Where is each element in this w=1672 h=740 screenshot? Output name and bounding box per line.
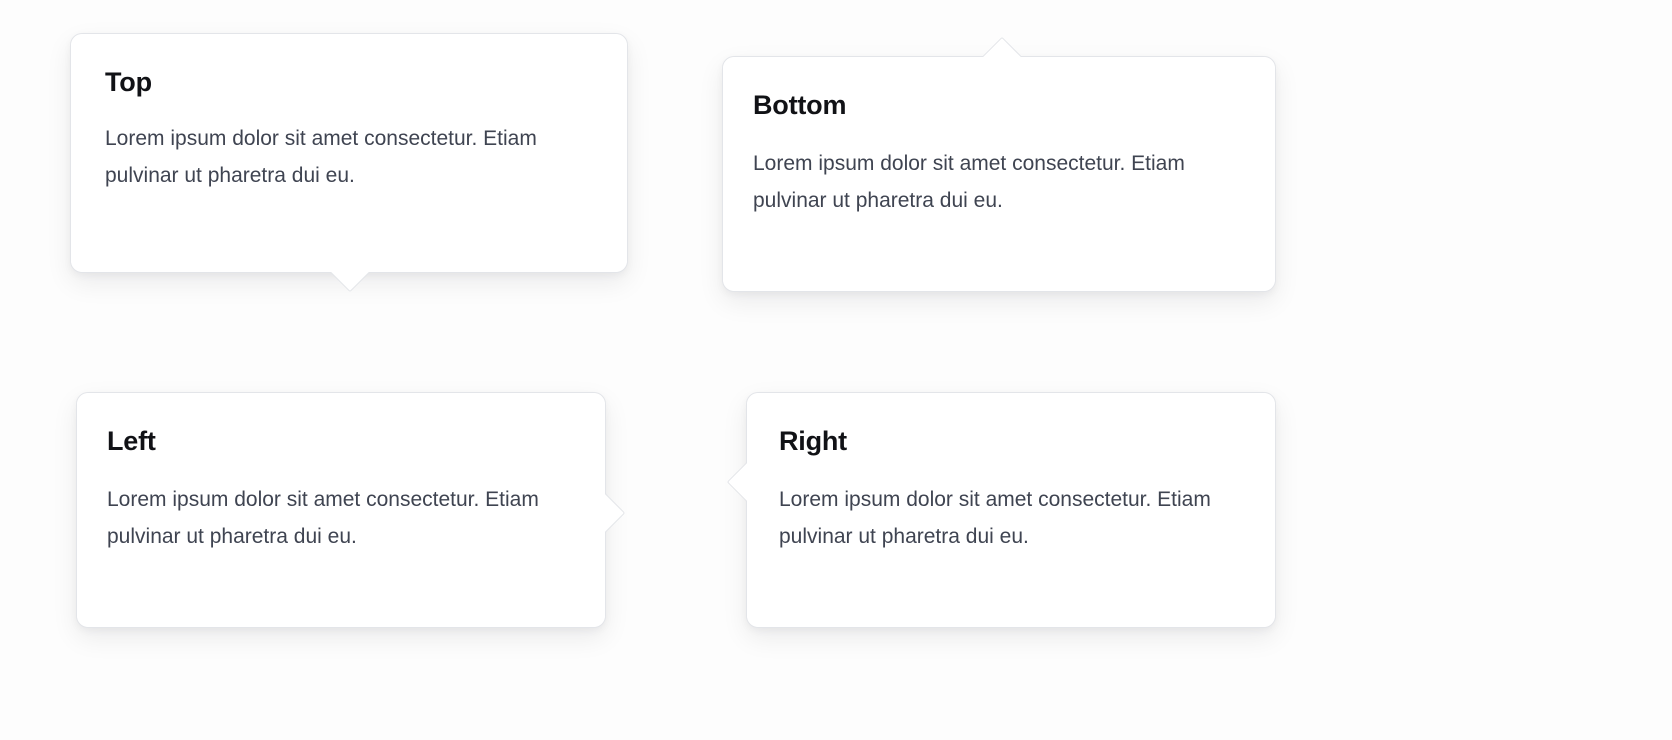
popover-left[interactable]: Left Lorem ipsum dolor sit amet consecte… xyxy=(76,392,606,628)
popover-top-title: Top xyxy=(105,68,591,98)
popover-top-text: Lorem ipsum dolor sit amet consectetur. … xyxy=(105,120,591,195)
popover-bottom[interactable]: Bottom Lorem ipsum dolor sit amet consec… xyxy=(722,56,1276,292)
popover-top-body: Top Lorem ipsum dolor sit amet consectet… xyxy=(71,34,627,272)
arrow-seam-mask xyxy=(601,490,605,534)
popover-right-title: Right xyxy=(779,427,1239,457)
popover-right[interactable]: Right Lorem ipsum dolor sit amet consect… xyxy=(746,392,1276,628)
popover-left-text: Lorem ipsum dolor sit amet consectetur. … xyxy=(107,481,569,556)
popover-top[interactable]: Top Lorem ipsum dolor sit amet consectet… xyxy=(70,33,628,273)
tooltip-placement-stage: Top Lorem ipsum dolor sit amet consectet… xyxy=(0,0,1672,740)
arrow-seam-mask xyxy=(979,57,1023,61)
popover-right-text: Lorem ipsum dolor sit amet consectetur. … xyxy=(779,481,1239,556)
popover-bottom-title: Bottom xyxy=(753,91,1239,121)
arrow-seam-mask xyxy=(327,268,371,272)
popover-bottom-body: Bottom Lorem ipsum dolor sit amet consec… xyxy=(723,57,1275,291)
popover-bottom-text: Lorem ipsum dolor sit amet consectetur. … xyxy=(753,145,1239,220)
popover-left-title: Left xyxy=(107,427,569,457)
popover-right-body: Right Lorem ipsum dolor sit amet consect… xyxy=(747,393,1275,627)
popover-left-body: Left Lorem ipsum dolor sit amet consecte… xyxy=(77,393,605,627)
arrow-seam-mask xyxy=(747,459,751,503)
